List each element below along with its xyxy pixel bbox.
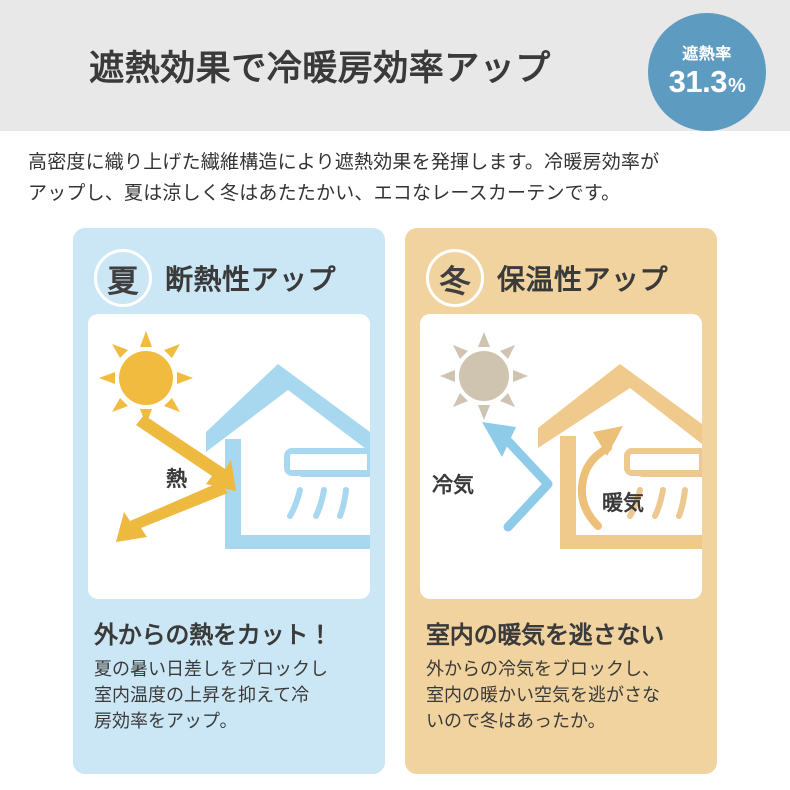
- cold-air-arrow: [506, 439, 548, 527]
- page-title: 遮熱効果で冷暖房効率アップ: [0, 0, 640, 131]
- season-badge-winter: 冬: [426, 249, 484, 307]
- panel-summer-title: 断熱性アップ: [165, 258, 336, 298]
- panel-winter-footer: 室内の暖気を逃さない 外からの冷気をブロックし、 室内の暖かい空気を逃がさな い…: [420, 599, 702, 734]
- panel-summer-footer: 外からの熱をカット！ 夏の暑い日差しをブロックし 室内温度の上昇を抑えて冷 房効…: [88, 599, 370, 734]
- cold-air-label: 冷気: [432, 473, 474, 497]
- badge-number: 31.3: [669, 66, 727, 97]
- sun-icon: [99, 331, 193, 425]
- badge-label: 遮熱率: [682, 47, 732, 63]
- warm-air-label: 暖気: [602, 491, 644, 515]
- panel-summer: 夏 断熱性アップ: [73, 228, 385, 774]
- winter-foot-line-1: 外からの冷気をブロックし、: [426, 656, 698, 682]
- lead-paragraph: 高密度に織り上げた繊維構造により遮熱効果を発揮します。冷暖房効率が アップし、夏…: [28, 148, 728, 210]
- summer-foot-body: 夏の暑い日差しをブロックし 室内温度の上昇を抑えて冷 房効率をアップ。: [94, 656, 366, 734]
- heat-reflected-arrow: [116, 482, 228, 542]
- heat-label: 熱: [166, 468, 187, 491]
- summer-foot-line-2: 室内温度の上昇を抑えて冷: [94, 682, 366, 708]
- sun-icon: [440, 332, 528, 420]
- header-band: 遮熱効果で冷暖房効率アップ 遮熱率 31.3%: [0, 0, 790, 131]
- status-badge: 遮熱率 31.3%: [648, 13, 766, 131]
- panel-summer-header: 夏 断熱性アップ: [88, 242, 370, 314]
- air-conditioner-icon: [287, 451, 370, 516]
- winter-foot-title: 室内の暖気を逃さない: [426, 615, 698, 650]
- summer-foot-line-3: 房効率をアップ。: [94, 708, 366, 734]
- house-icon: [538, 364, 702, 549]
- lead-line-1: 高密度に織り上げた繊維構造により遮熱効果を発揮します。冷暖房効率が: [28, 148, 728, 179]
- winter-diagram: 冷気 暖気: [420, 314, 702, 599]
- badge-unit: %: [728, 76, 745, 96]
- panel-winter-title: 保温性アップ: [497, 258, 668, 298]
- summer-illustration: 熱: [88, 314, 370, 599]
- summer-foot-line-1: 夏の暑い日差しをブロックし: [94, 656, 366, 682]
- comparison-panels: 夏 断熱性アップ: [73, 228, 717, 774]
- panel-winter-header: 冬 保温性アップ: [420, 242, 702, 314]
- winter-illustration: 冷気 暖気: [420, 314, 702, 599]
- badge-value: 31.3%: [669, 66, 746, 97]
- summer-foot-title: 外からの熱をカット！: [94, 615, 366, 650]
- panel-winter: 冬 保温性アップ: [405, 228, 717, 774]
- season-badge-summer: 夏: [94, 249, 152, 307]
- winter-foot-line-3: いので冬はあったか。: [426, 708, 698, 734]
- winter-foot-body: 外からの冷気をブロックし、 室内の暖かい空気を逃がさな いので冬はあったか。: [426, 656, 698, 734]
- winter-foot-line-2: 室内の暖かい空気を逃がさな: [426, 682, 698, 708]
- lead-line-2: アップし、夏は涼しく冬はあたたかい、エコなレースカーテンです。: [28, 179, 728, 210]
- summer-diagram: 熱: [88, 314, 370, 599]
